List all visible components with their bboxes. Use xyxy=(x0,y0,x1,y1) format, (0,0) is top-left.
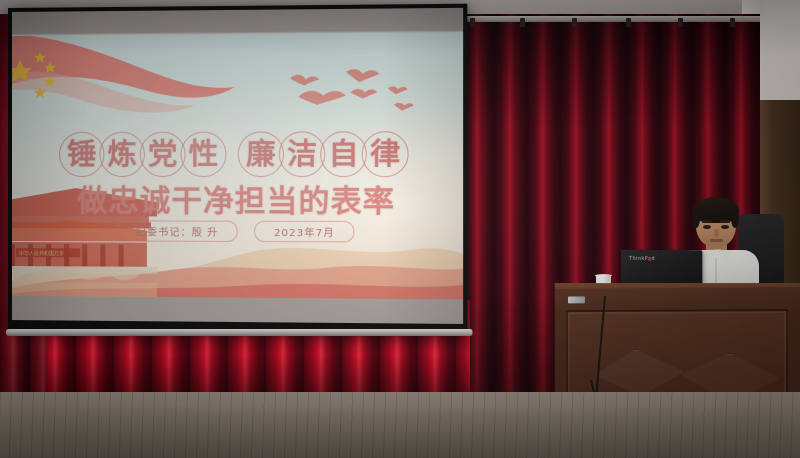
title-char: 洁 xyxy=(279,131,325,177)
eyebrow-left xyxy=(702,220,712,223)
nose xyxy=(714,229,719,237)
title-char: 自 xyxy=(320,131,367,177)
curtain-hook-icon xyxy=(520,18,525,27)
podium-plate-icon xyxy=(568,296,585,303)
curtain-hook-icon xyxy=(470,18,475,27)
slide-title: 锤 炼 党 性 廉 洁 自 律 xyxy=(12,131,463,177)
curtain-hook-icon xyxy=(572,18,577,27)
curtain-rail xyxy=(440,16,760,22)
title-char: 性 xyxy=(180,132,226,178)
svg-text:中华人民共和国万岁: 中华人民共和国万岁 xyxy=(19,250,64,257)
china-flag-icon xyxy=(12,32,251,126)
projection-screen: 中华人民共和国万岁 锤 炼 xyxy=(8,4,467,335)
curtain-hook-icon xyxy=(626,18,631,27)
slide-subtitle: 做忠诚干净担当的表率 xyxy=(12,176,463,221)
conference-room-scene: 中华人民共和国万岁 锤 炼 xyxy=(0,0,800,458)
eye-right xyxy=(721,225,729,229)
curtain-hook-icon xyxy=(678,18,683,27)
presentation-slide: 中华人民共和国万岁 锤 炼 xyxy=(12,32,463,299)
hair-side-left xyxy=(692,208,700,228)
eye-left xyxy=(703,225,711,229)
podium-diamond-icon xyxy=(594,349,684,396)
eyebrow-right xyxy=(720,220,730,223)
projection-surface: 中华人民共和国万岁 锤 炼 xyxy=(12,8,463,324)
title-char: 炼 xyxy=(99,132,145,177)
curtain-hook-icon xyxy=(730,18,735,27)
laptop-logo-dot-icon xyxy=(648,257,651,260)
screen-weight-bar xyxy=(6,329,473,336)
title-char: 党 xyxy=(140,132,186,177)
presenter-badge: 纪委书记：殷 升 xyxy=(117,220,238,242)
title-char: 锤 xyxy=(59,132,104,177)
date-badge: 2023年7月 xyxy=(254,221,354,243)
wooden-floor xyxy=(0,392,800,458)
flying-doves-icon xyxy=(286,68,432,126)
slide-badge-row: 纪委书记：殷 升 2023年7月 xyxy=(12,220,463,243)
title-char: 廉 xyxy=(238,131,284,177)
title-char: 律 xyxy=(362,131,409,177)
mouth xyxy=(710,239,723,242)
hair-side-right xyxy=(731,208,739,228)
